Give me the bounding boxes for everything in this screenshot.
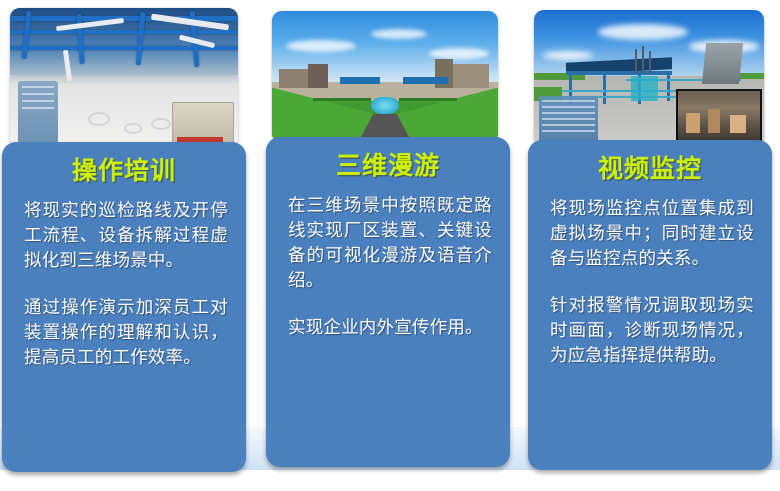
- card-body-3: 将现场监控点位置集成到虚拟场景中；同时建立设备与监控点的关系。 针对报警情况调取…: [528, 182, 772, 368]
- feature-card-group: 操作培训 将现实的巡检路线及开停工流程、设备拆解过程虚拟化到三维场景中。 通过操…: [0, 0, 780, 491]
- card-panel-2: 三维漫游 在三维场景中按照既定路线实现厂区装置、关键设备的可视化漫游及语音介绍。…: [266, 137, 510, 467]
- card-title-1: 操作培训: [2, 142, 246, 184]
- card-paragraph: 将现实的巡检路线及开停工流程、设备拆解过程虚拟化到三维场景中。: [24, 198, 228, 273]
- card-paragraph: 将现场监控点位置集成到虚拟场景中；同时建立设备与监控点的关系。: [550, 196, 754, 271]
- feature-card-three-dimensional-roaming[interactable]: 三维漫游 在三维场景中按照既定路线实现厂区装置、关键设备的可视化漫游及语音介绍。…: [266, 6, 510, 476]
- card-body-1: 将现实的巡检路线及开停工流程、设备拆解过程虚拟化到三维场景中。 通过操作演示加深…: [2, 184, 246, 370]
- card-body-2: 在三维场景中按照既定路线实现厂区装置、关键设备的可视化漫游及语音介绍。 实现企业…: [266, 179, 510, 340]
- card-thumbnail-image-2: [272, 11, 498, 143]
- feature-card-video-surveillance[interactable]: 视频监控 将现场监控点位置集成到虚拟场景中；同时建立设备与监控点的关系。 针对报…: [528, 6, 772, 476]
- scene-fountain: [371, 97, 398, 114]
- card-panel-1: 操作培训 将现实的巡检路线及开停工流程、设备拆解过程虚拟化到三维场景中。 通过操…: [2, 142, 246, 472]
- card-paragraph: 实现企业内外宣传作用。: [288, 315, 492, 340]
- card-panel-3: 视频监控 将现场监控点位置集成到虚拟场景中；同时建立设备与监控点的关系。 针对报…: [528, 140, 772, 470]
- indoor-plant-3d-scene: [10, 8, 238, 148]
- card-thumbnail-image-3: [534, 10, 764, 148]
- card-title-2: 三维漫游: [266, 137, 510, 179]
- card-paragraph: 针对报警情况调取现场实时画面，诊断现场情况，为应急指挥提供帮助。: [550, 293, 754, 368]
- card-title-3: 视频监控: [528, 140, 772, 182]
- scene-info-overlay-panel: [539, 96, 599, 143]
- cctv-video-overlay: [676, 89, 762, 147]
- scene-machine-unit: [172, 102, 234, 146]
- scene-wall-panel: [18, 81, 58, 143]
- card-thumbnail-image-1: [10, 8, 238, 148]
- infographic-page: 操作培训 将现实的巡检路线及开停工流程、设备拆解过程虚拟化到三维场景中。 通过操…: [0, 0, 780, 491]
- plant-3d-scene-with-cctv-overlay: [534, 10, 764, 148]
- feature-card-operation-training[interactable]: 操作培训 将现实的巡检路线及开停工流程、设备拆解过程虚拟化到三维场景中。 通过操…: [2, 6, 246, 476]
- card-paragraph: 通过操作演示加深员工对装置操作的理解和认识，提高员工的工作效率。: [24, 295, 228, 370]
- card-paragraph: 在三维场景中按照既定路线实现厂区装置、关键设备的可视化漫游及语音介绍。: [288, 193, 492, 293]
- outdoor-plant-lawn-fountain-3d-scene: [272, 11, 498, 143]
